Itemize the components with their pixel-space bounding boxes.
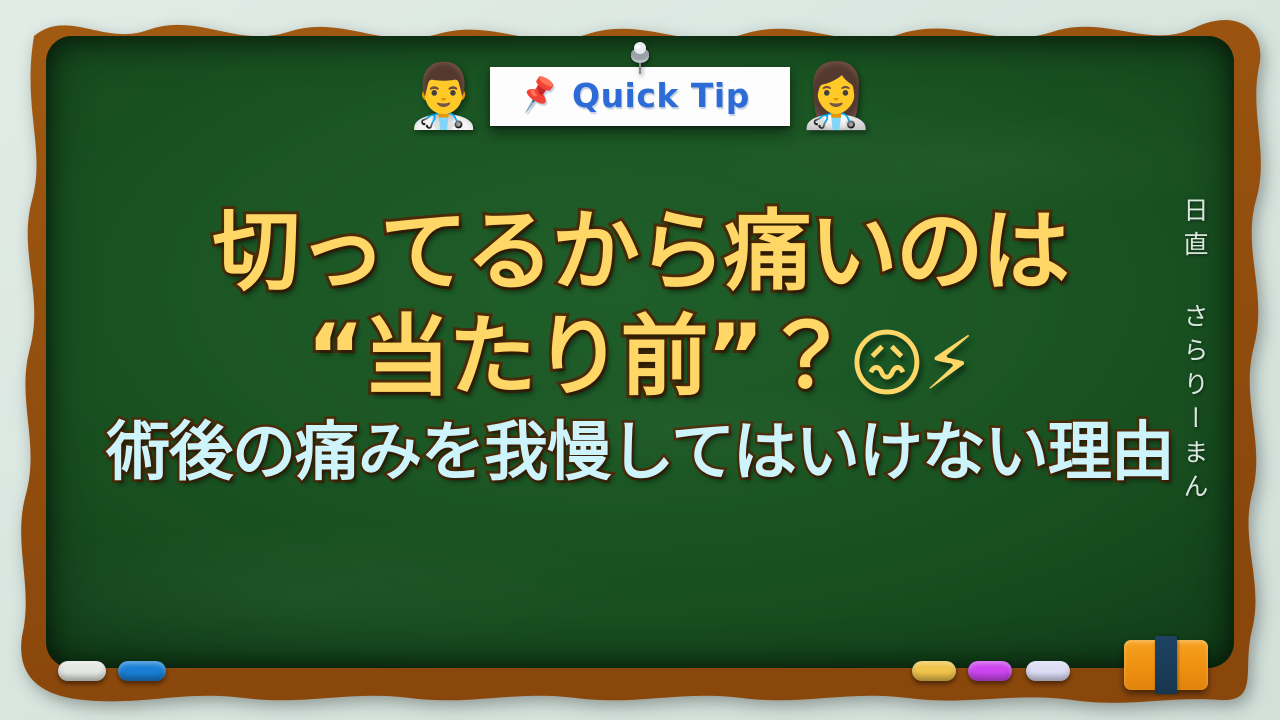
- quick-tip-badge[interactable]: 📌 Quick Tip: [490, 67, 790, 126]
- chalk-white[interactable]: [58, 661, 106, 681]
- woman-health-worker-emoji: 👩‍⚕️: [798, 65, 875, 127]
- chalkboard-eraser[interactable]: [1124, 640, 1208, 690]
- chalk-yellow[interactable]: [912, 661, 956, 681]
- quick-tip-label: Quick Tip: [572, 76, 750, 115]
- header-row: 👨‍⚕️ 📌 Quick Tip 👩‍⚕️: [46, 44, 1234, 148]
- slide-canvas: 👨‍⚕️ 📌 Quick Tip 👩‍⚕️ 切ってるから痛いのは: [0, 0, 1280, 720]
- pin-emoji: 📌: [517, 76, 560, 113]
- headline-line-2: “当たり前”？😖⚡: [46, 309, 1234, 405]
- headline-line-2-text: “当たり前”？: [307, 305, 849, 408]
- quick-tip-card-holder: 📌 Quick Tip: [490, 67, 790, 126]
- headline-subtitle: 術後の痛みを我慢してはいけない理由: [46, 419, 1234, 488]
- headline-block: 切ってるから痛いのは “当たり前”？😖⚡ 術後の痛みを我慢してはいけない理由: [46, 204, 1234, 488]
- chalk-magenta[interactable]: [968, 661, 1012, 681]
- chalk-lavender[interactable]: [1026, 661, 1070, 681]
- headline-line-1: 切ってるから痛いのは: [46, 204, 1234, 299]
- man-health-worker-emoji: 👨‍⚕️: [405, 65, 482, 127]
- chalk-blue[interactable]: [118, 661, 166, 681]
- eraser-band: [1155, 636, 1177, 694]
- confounded-face-and-lightning-emoji: 😖⚡: [848, 321, 973, 407]
- pushpin-icon: [629, 41, 651, 75]
- vertical-signature: 日直 さらりーまん: [1176, 197, 1212, 507]
- chalkboard-surface: 👨‍⚕️ 📌 Quick Tip 👩‍⚕️ 切ってるから痛いのは: [46, 36, 1234, 668]
